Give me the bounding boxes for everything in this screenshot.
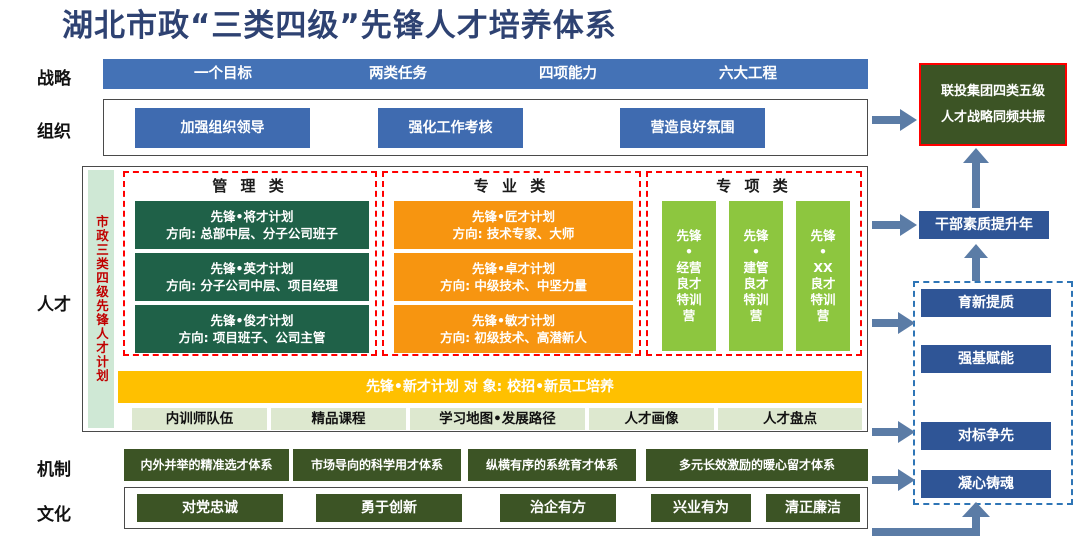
strategy-item-3[interactable]: 六大工程 — [668, 59, 828, 89]
plan-name: 先锋•英才计划 — [211, 260, 294, 277]
organization-box-1[interactable]: 强化工作考核 — [378, 108, 523, 148]
plan-direction: 方向: 初级技术、高潜新人 — [440, 329, 587, 346]
mechanism-box-retain[interactable]: 多元长效激励的暖心留才体系 — [646, 449, 868, 481]
talent-group-professional-heading: 专 业 类 — [384, 175, 639, 197]
special-line: 良才 — [743, 276, 768, 292]
plan-box-agile[interactable]: 先锋•敏才计划 方向: 初级技术、高潜新人 — [394, 305, 633, 353]
culture-box-enterprise[interactable]: 兴业有为 — [651, 494, 751, 522]
talent-vertical-strip: 市政三类四级先锋人才计划 — [88, 170, 114, 428]
plan-name: 先锋•敏才计划 — [472, 312, 555, 329]
organization-box-0[interactable]: 加强组织领导 — [135, 108, 310, 148]
pillar-box-1[interactable]: 强基赋能 — [921, 345, 1051, 373]
special-line: 建管 — [743, 260, 768, 276]
special-line: • — [685, 244, 693, 260]
plan-box-outstanding[interactable]: 先锋•卓才计划 方向: 中级技术、中坚力量 — [394, 253, 633, 301]
special-line: 良才 — [676, 276, 701, 292]
special-line: 先锋 — [810, 228, 835, 244]
plan-direction: 方向: 总部中层、分子公司班子 — [166, 225, 338, 242]
strategy-item-2[interactable]: 四项能力 — [488, 59, 648, 89]
special-line: • — [819, 244, 827, 260]
special-line: XX — [813, 260, 832, 276]
year-theme-box[interactable]: 干部素质提升年 — [919, 211, 1049, 239]
plan-box-general[interactable]: 先锋•将才计划 方向: 总部中层、分子公司班子 — [135, 201, 369, 249]
special-line: 营 — [817, 308, 830, 324]
organization-panel: 加强组织领导 强化工作考核 营造良好氛围 — [103, 99, 868, 156]
row-label-mechanism: 机制 — [14, 455, 94, 480]
special-column-xx[interactable]: 先锋 • XX 良才 特训 营 — [796, 201, 850, 351]
vision-line-2: 人才战略同频共振 — [941, 105, 1045, 131]
strategy-item-1[interactable]: 两类任务 — [318, 59, 478, 89]
row-label-organization: 组织 — [14, 117, 94, 142]
support-tile-learning-map[interactable]: 学习地图•发展路径 — [410, 408, 585, 430]
special-line: • — [752, 244, 760, 260]
talent-group-management-heading: 管 理 类 — [125, 175, 375, 197]
organization-box-2[interactable]: 营造良好氛围 — [620, 108, 765, 148]
arrow-to-pillar-0-icon — [872, 312, 915, 334]
support-tile-courses[interactable]: 精品课程 — [271, 408, 406, 430]
support-tile-talent-review[interactable]: 人才盘点 — [718, 408, 862, 430]
pillar-box-3[interactable]: 凝心铸魂 — [921, 470, 1051, 498]
special-line: 先锋 — [743, 228, 768, 244]
strategy-bar: 一个目标 两类任务 四项能力 六大工程 — [103, 59, 868, 89]
mechanism-box-select[interactable]: 内外并举的精准选才体系 — [124, 449, 289, 481]
talent-group-special: 专 项 类 先锋 • 经营 良才 特训 营 先锋 • 建管 良才 特训 营 先锋… — [646, 171, 862, 356]
culture-box-governance[interactable]: 治企有方 — [500, 494, 616, 522]
row-label-strategy: 战略 — [14, 64, 94, 89]
talent-group-special-heading: 专 项 类 — [648, 175, 860, 197]
plan-name: 先锋•将才计划 — [211, 208, 294, 225]
arrow-up-to-vision-icon — [963, 148, 989, 208]
page-title: 湖北市政“三类四级”先锋人才培养体系 — [62, 4, 762, 48]
talent-group-management: 管 理 类 先锋•将才计划 方向: 总部中层、分子公司班子 先锋•英才计划 方向… — [123, 171, 377, 356]
special-column-operation[interactable]: 先锋 • 经营 良才 特训 营 — [662, 201, 716, 351]
vision-line-1: 联投集团四类五级 — [941, 79, 1045, 105]
arrow-up-to-year-theme-icon — [964, 244, 988, 281]
plan-direction: 方向: 项目班子、公司主管 — [179, 329, 326, 346]
new-talent-plan-bar[interactable]: 先锋•新才计划 对 象: 校招•新员工培养 — [118, 371, 862, 403]
plan-name: 先锋•卓才计划 — [472, 260, 555, 277]
special-column-construction[interactable]: 先锋 • 建管 良才 特训 营 — [729, 201, 783, 351]
plan-name: 先锋•俊才计划 — [211, 312, 294, 329]
mechanism-box-develop[interactable]: 纵横有序的系统育才体系 — [468, 449, 636, 481]
arrow-to-year-theme-icon — [872, 214, 917, 236]
culture-box-innovation[interactable]: 勇于创新 — [316, 494, 462, 522]
culture-box-integrity[interactable]: 清正廉洁 — [766, 494, 860, 522]
special-line: 特训 — [810, 292, 835, 308]
row-label-culture: 文化 — [14, 500, 94, 525]
vision-box[interactable]: 联投集团四类五级 人才战略同频共振 — [919, 63, 1067, 146]
special-line: 特训 — [676, 292, 701, 308]
special-line: 经营 — [676, 260, 701, 276]
special-line: 先锋 — [676, 228, 701, 244]
arrow-to-vision-icon — [872, 109, 917, 131]
special-line: 良才 — [810, 276, 835, 292]
diagram-canvas: 湖北市政“三类四级”先锋人才培养体系 战略 组织 人才 机制 文化 一个目标 两… — [0, 0, 1080, 543]
talent-group-professional: 专 业 类 先锋•匠才计划 方向: 技术专家、大师 先锋•卓才计划 方向: 中级… — [382, 171, 641, 356]
plan-direction: 方向: 分子公司中层、项目经理 — [166, 277, 338, 294]
support-tile-trainers[interactable]: 内训师队伍 — [132, 408, 267, 430]
culture-box-loyalty[interactable]: 对党忠诚 — [137, 494, 283, 522]
plan-box-elite[interactable]: 先锋•英才计划 方向: 分子公司中层、项目经理 — [135, 253, 369, 301]
pillar-box-0[interactable]: 育新提质 — [921, 289, 1051, 317]
support-tile-talent-profile[interactable]: 人才画像 — [589, 408, 714, 430]
plan-direction: 方向: 中级技术、中坚力量 — [440, 277, 587, 294]
plan-box-talented[interactable]: 先锋•俊才计划 方向: 项目班子、公司主管 — [135, 305, 369, 353]
arrow-to-pillar-2-icon — [872, 421, 915, 443]
plan-box-craftsman[interactable]: 先锋•匠才计划 方向: 技术专家、大师 — [394, 201, 633, 249]
special-line: 营 — [750, 308, 763, 324]
strategy-item-0[interactable]: 一个目标 — [143, 59, 303, 89]
plan-direction: 方向: 技术专家、大师 — [453, 225, 575, 242]
mechanism-box-employ[interactable]: 市场导向的科学用才体系 — [293, 449, 461, 481]
pillar-box-2[interactable]: 对标争先 — [921, 422, 1051, 450]
special-line: 特训 — [743, 292, 768, 308]
plan-name: 先锋•匠才计划 — [472, 208, 555, 225]
arrow-to-pillar-3-icon — [872, 469, 915, 491]
arrow-up-from-culture-icon — [872, 502, 990, 536]
special-line: 营 — [683, 308, 696, 324]
